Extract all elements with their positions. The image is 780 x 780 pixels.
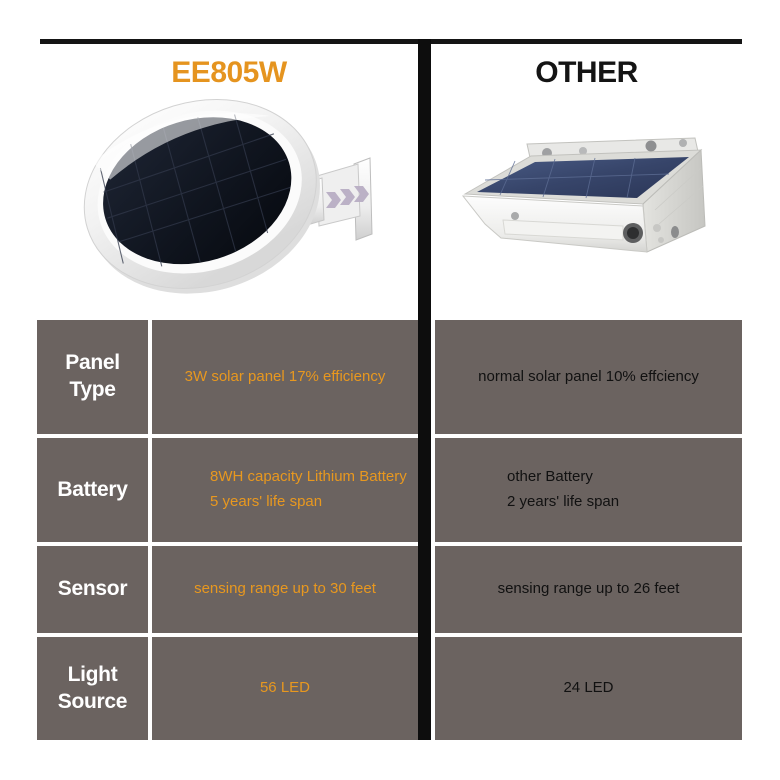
product-image-ee805w bbox=[70, 88, 400, 303]
row-label-sensor: Sensor bbox=[37, 546, 148, 633]
cell-line: 3W solar panel 17% efficiency bbox=[185, 365, 386, 390]
table-row: Sensor sensing range up to 30 feet sensi… bbox=[37, 546, 742, 633]
cell-line: 8WH capacity Lithium Battery bbox=[210, 465, 407, 490]
row-label-line: Sensor bbox=[58, 576, 127, 603]
cell-ee805w-battery: 8WH capacity Lithium Battery 5 years' li… bbox=[152, 438, 418, 542]
cell-other-light-source: 24 LED bbox=[435, 637, 742, 740]
row-label-line: Source bbox=[58, 689, 127, 716]
cell-line: 56 LED bbox=[260, 676, 310, 701]
row-label-panel-type: Panel Type bbox=[37, 320, 148, 434]
cell-line: normal solar panel 10% effciency bbox=[478, 365, 699, 390]
cell-other-sensor: sensing range up to 26 feet bbox=[435, 546, 742, 633]
top-divider-rule bbox=[40, 39, 742, 44]
lamp-housing bbox=[70, 88, 344, 303]
cell-line: 2 years' life span bbox=[507, 490, 619, 515]
cell-line: sensing range up to 30 feet bbox=[194, 577, 376, 602]
comparison-table: Panel Type 3W solar panel 17% efficiency… bbox=[37, 320, 742, 740]
rect-solar-light-icon bbox=[455, 128, 725, 273]
cell-other-panel-type: normal solar panel 10% effciency bbox=[435, 320, 742, 434]
row-label-line: Panel bbox=[65, 350, 120, 377]
cell-other-battery: other Battery 2 years' life span bbox=[435, 438, 742, 542]
column-header-other: OTHER bbox=[431, 52, 742, 94]
table-row: Light Source 56 LED 24 LED bbox=[37, 637, 742, 740]
cell-ee805w-light-source: 56 LED bbox=[152, 637, 418, 740]
table-row: Battery 8WH capacity Lithium Battery 5 y… bbox=[37, 438, 742, 542]
cell-line: 5 years' life span bbox=[210, 490, 407, 515]
cell-line: 24 LED bbox=[563, 676, 613, 701]
row-label-battery: Battery bbox=[37, 438, 148, 542]
comparison-infographic: EE805W OTHER bbox=[0, 0, 780, 780]
row-label-light-source: Light Source bbox=[37, 637, 148, 740]
row-label-line: Battery bbox=[57, 477, 127, 504]
product-image-other bbox=[455, 128, 725, 273]
cell-line: other Battery bbox=[507, 465, 619, 490]
cell-ee805w-panel-type: 3W solar panel 17% efficiency bbox=[152, 320, 418, 434]
cell-ee805w-sensor: sensing range up to 30 feet bbox=[152, 546, 418, 633]
row-label-line: Light bbox=[58, 662, 127, 689]
table-row: Panel Type 3W solar panel 17% efficiency… bbox=[37, 320, 742, 434]
round-solar-light-icon bbox=[70, 88, 400, 303]
row-label-line: Type bbox=[65, 377, 120, 404]
cell-line: sensing range up to 26 feet bbox=[498, 577, 680, 602]
